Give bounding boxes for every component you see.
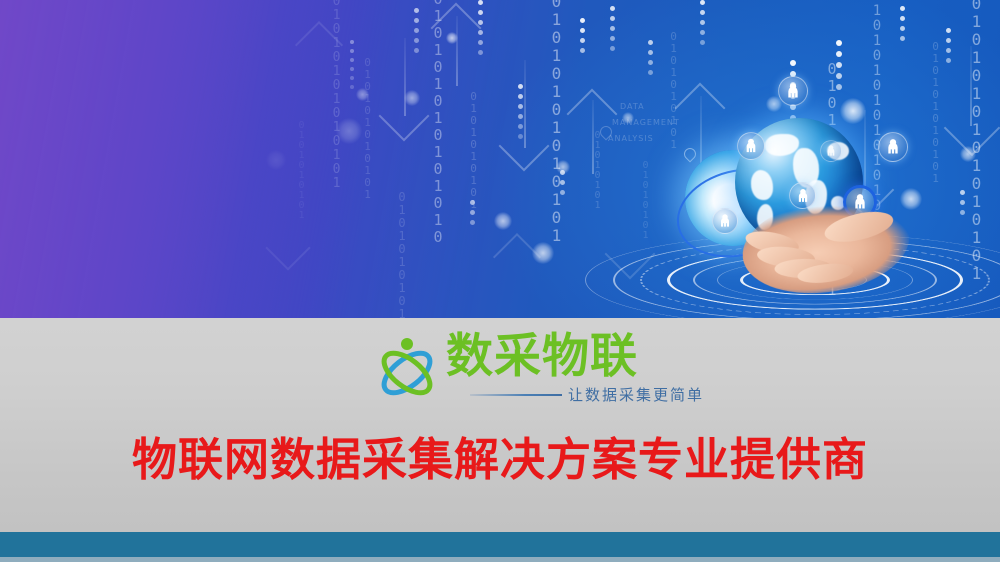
data-dot-column bbox=[560, 170, 565, 200]
data-dot-column bbox=[700, 0, 705, 50]
person-icon bbox=[878, 132, 908, 162]
glow-dot bbox=[840, 98, 866, 124]
person-glyph bbox=[779, 77, 807, 105]
data-dot-column bbox=[648, 40, 653, 80]
arrow-down-icon bbox=[499, 121, 550, 172]
company-logo[interactable]: 数采物联 让数据采集更简单 bbox=[376, 333, 704, 405]
logo-wordmark: 数采物联 bbox=[446, 333, 704, 380]
data-dot-column bbox=[836, 40, 842, 95]
glow-dot bbox=[404, 90, 420, 106]
glow-dot bbox=[556, 160, 570, 174]
binary-stream-text: 01010101010101 bbox=[330, 0, 343, 190]
glow-dot bbox=[336, 118, 362, 144]
data-dot-column bbox=[946, 28, 951, 68]
data-dot-column bbox=[580, 18, 585, 58]
binary-stream-text: 01010101010101 bbox=[548, 0, 564, 244]
arrow-down-icon bbox=[970, 46, 972, 126]
person-glyph bbox=[713, 209, 737, 233]
arrow-up-icon bbox=[675, 83, 726, 134]
person-icon bbox=[778, 76, 808, 106]
hero-banner: 01010101010101 010101010101 010101010101… bbox=[0, 0, 1000, 318]
data-dot-column bbox=[470, 200, 475, 230]
footer-accent-bar bbox=[0, 532, 1000, 557]
glow-dot bbox=[356, 88, 369, 101]
person-glyph bbox=[879, 133, 907, 161]
logo-divider-line bbox=[470, 394, 562, 396]
watermark-text: DATA bbox=[620, 102, 645, 111]
data-dot-column bbox=[350, 40, 354, 94]
binary-stream-text: 0101010101 bbox=[468, 90, 479, 210]
page-title: 物联网数据采集解决方案专业提供商 bbox=[0, 435, 1000, 485]
watermark-text: MANAGEMENT bbox=[612, 118, 680, 127]
data-dot-column bbox=[900, 6, 905, 46]
atom-orbit-glyph bbox=[376, 333, 438, 401]
footer-bottom-edge bbox=[0, 557, 1000, 562]
binary-stream-text: 0101010101 bbox=[296, 120, 306, 220]
glow-dot bbox=[532, 242, 554, 264]
binary-stream-text: 0101010101 bbox=[668, 30, 679, 150]
binary-stream-text: 0101010101 bbox=[396, 190, 408, 318]
data-dot-column bbox=[610, 6, 615, 56]
logo-tagline-row: 让数据采集更简单 bbox=[470, 384, 704, 405]
person-icon bbox=[737, 132, 765, 160]
shucai-wulian-atom-logo-icon bbox=[376, 333, 438, 401]
glow-dot bbox=[494, 212, 512, 230]
glow-dot bbox=[446, 32, 458, 44]
data-dot-column bbox=[414, 8, 419, 58]
person-glyph bbox=[738, 133, 764, 159]
person-icon bbox=[820, 140, 842, 162]
logo-tagline: 让数据采集更简单 bbox=[568, 384, 704, 405]
person-glyph bbox=[821, 141, 841, 161]
banner-page: 01010101010101 010101010101 010101010101… bbox=[0, 0, 1000, 562]
binary-stream-text: 010101010101 bbox=[362, 56, 373, 200]
arrow-down-icon bbox=[265, 225, 310, 270]
glow-dot bbox=[266, 150, 286, 170]
watermark-text: ANALYSIS bbox=[608, 134, 654, 143]
person-icon bbox=[712, 208, 738, 234]
